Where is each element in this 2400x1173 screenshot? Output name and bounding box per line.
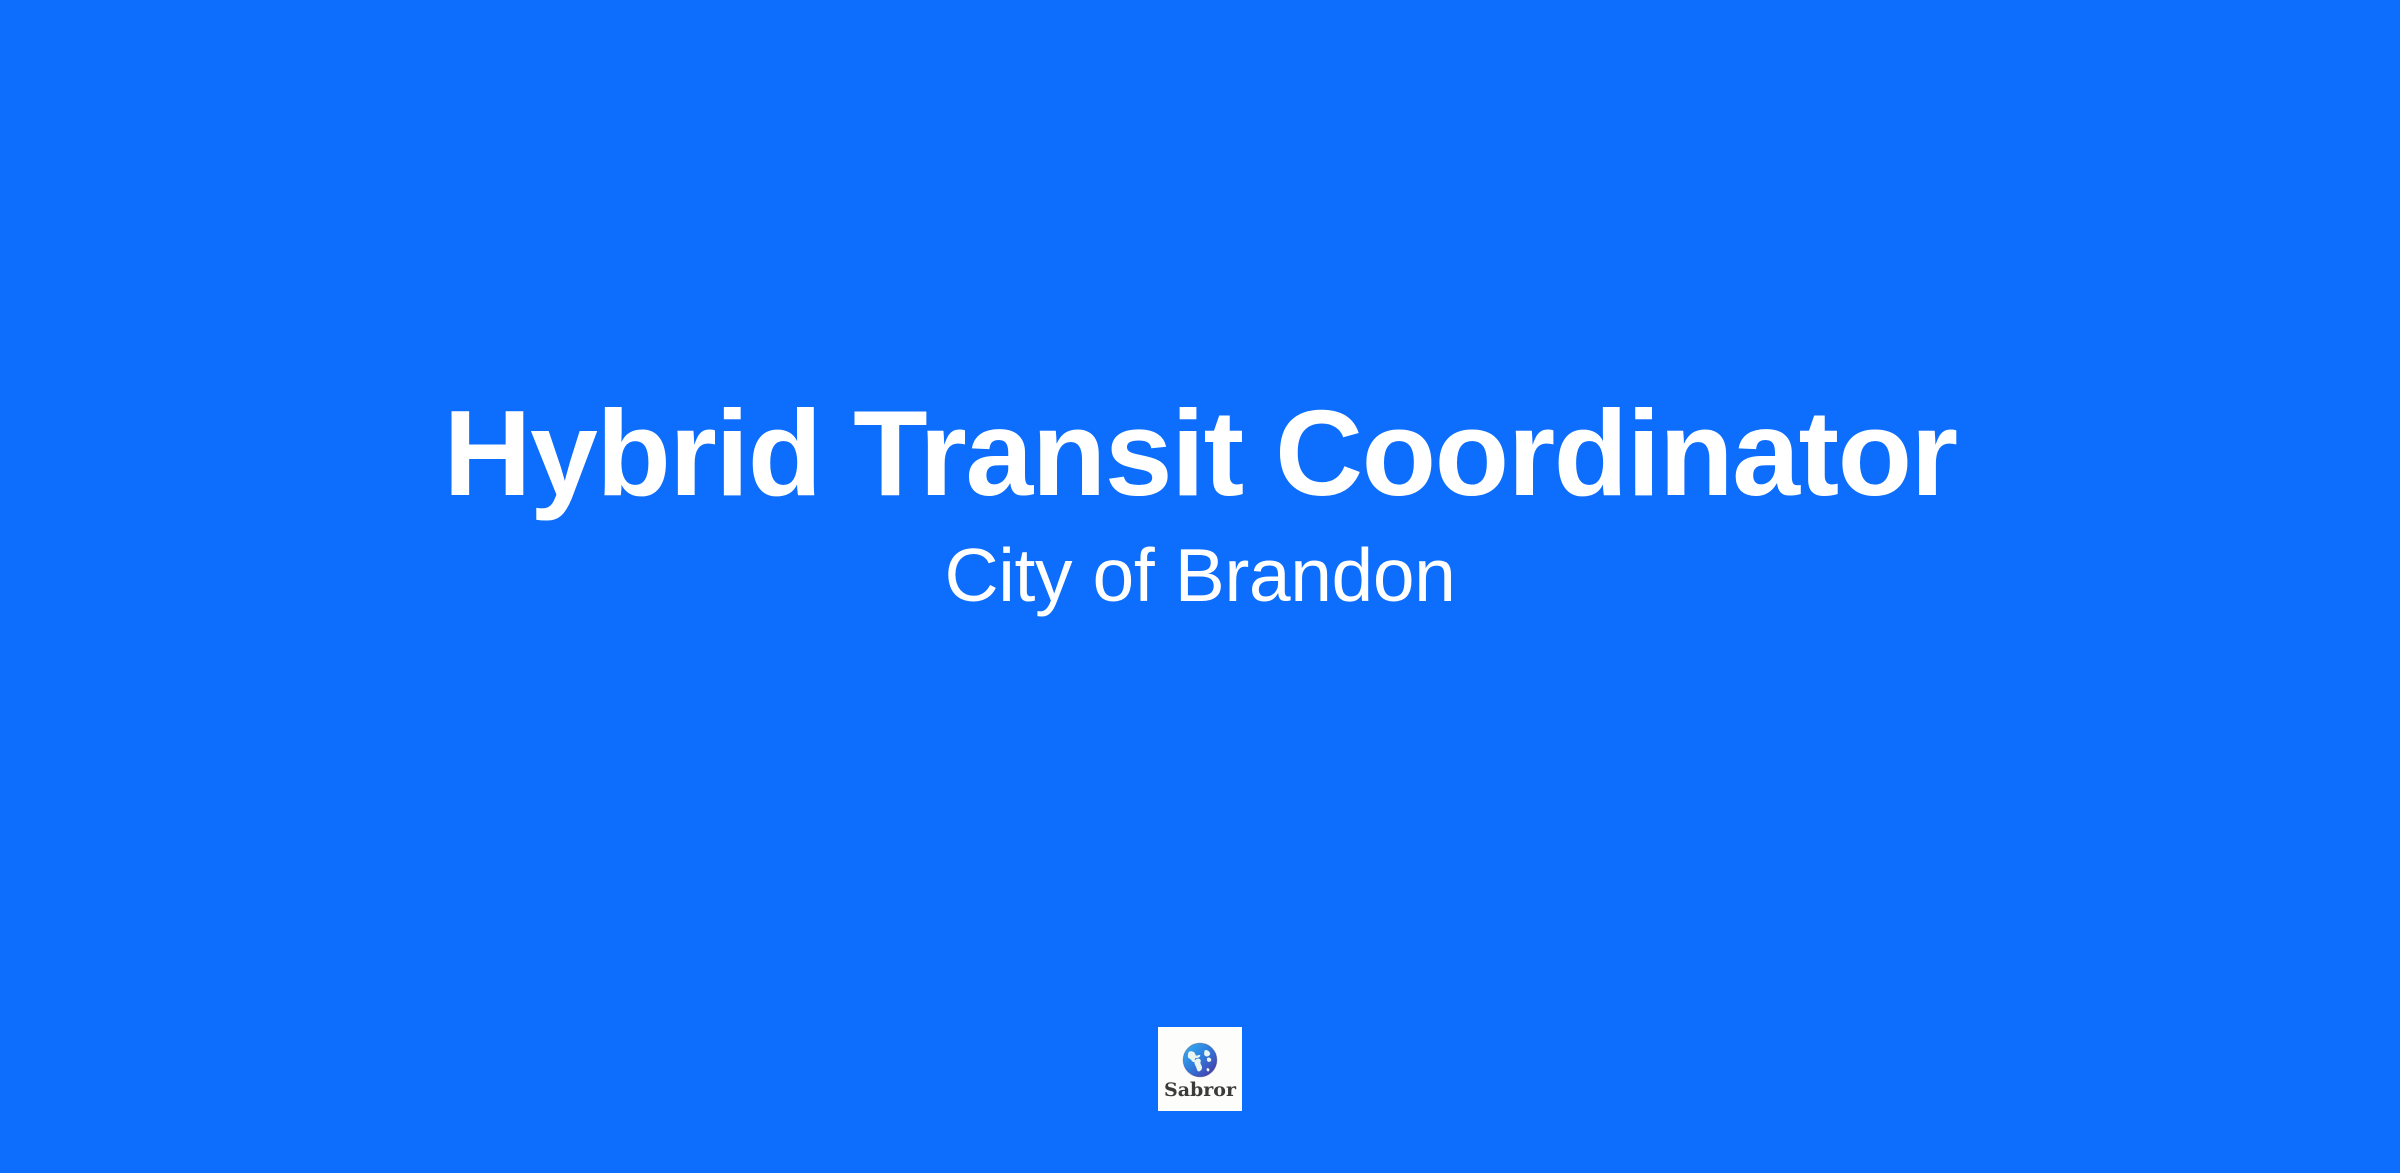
- brand-name: Sabror: [1164, 1081, 1236, 1100]
- page-subtitle: City of Brandon: [0, 514, 2400, 613]
- globe-icon: [1180, 1040, 1220, 1080]
- page-title: Hybrid Transit Coordinator: [0, 392, 2400, 514]
- brand-logo[interactable]: Sabror: [1158, 1027, 1242, 1111]
- hero-splash-screen: Hybrid Transit Coordinator City of Brand…: [0, 0, 2400, 1173]
- headline-block: Hybrid Transit Coordinator City of Brand…: [0, 392, 2400, 613]
